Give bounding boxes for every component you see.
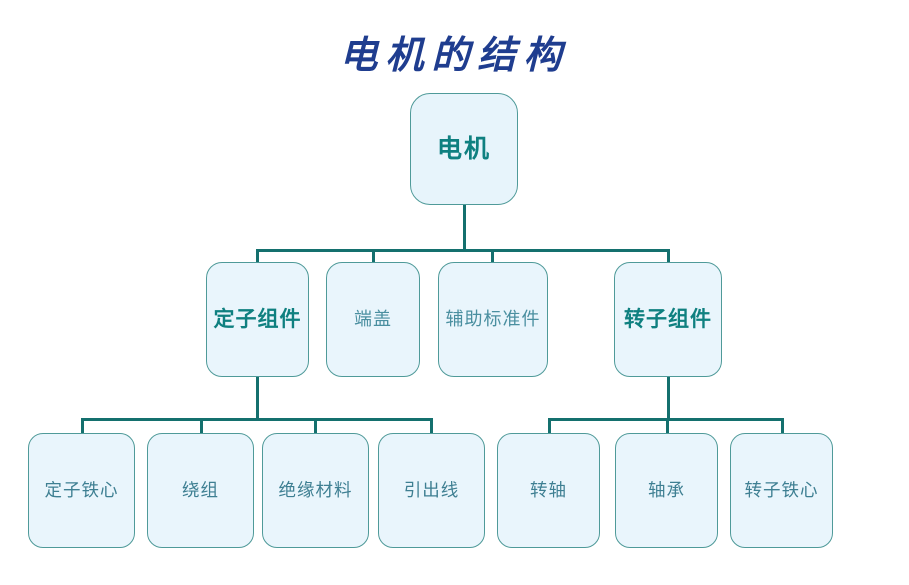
- connector-stub-insulation: [314, 418, 317, 434]
- node-insulating-material[interactable]: 绝缘材料: [262, 433, 369, 548]
- connector-stub-shaft: [548, 418, 551, 434]
- connector-left-group-bus: [81, 418, 433, 421]
- node-end-cap[interactable]: 端盖: [326, 262, 420, 377]
- connector-stub-stator: [256, 249, 259, 263]
- connector-stub-leadwire: [430, 418, 433, 434]
- node-lead-wire[interactable]: 引出线: [378, 433, 485, 548]
- connector-stub-auxparts: [491, 249, 494, 263]
- connector-stub-endcap: [372, 249, 375, 263]
- connector-stub-bearing: [666, 418, 669, 434]
- node-rotor-assembly[interactable]: 转子组件: [614, 262, 722, 377]
- connector-level2-bus: [256, 249, 670, 252]
- connector-stub-rotor: [667, 249, 670, 263]
- node-winding[interactable]: 绕组: [147, 433, 254, 548]
- connector-stub-winding: [200, 418, 203, 434]
- node-bearing[interactable]: 轴承: [615, 433, 718, 548]
- connector-rotor-drop: [667, 376, 670, 419]
- diagram-canvas: 电机的结构 电机 定子组件 端盖 辅助标准件 转子组件 定子铁心 绕组 绝缘材料…: [0, 0, 909, 585]
- node-stator-core[interactable]: 定子铁心: [28, 433, 135, 548]
- connector-stator-drop: [256, 376, 259, 419]
- connector-root-drop: [463, 204, 466, 252]
- connector-stub-stator-core: [81, 418, 84, 434]
- node-auxiliary-standard-parts[interactable]: 辅助标准件: [438, 262, 548, 377]
- node-shaft[interactable]: 转轴: [497, 433, 600, 548]
- node-stator-assembly[interactable]: 定子组件: [206, 262, 309, 377]
- node-motor[interactable]: 电机: [410, 93, 518, 205]
- page-title: 电机的结构: [0, 24, 909, 79]
- connector-stub-rotor-core: [781, 418, 784, 434]
- node-rotor-core[interactable]: 转子铁心: [730, 433, 833, 548]
